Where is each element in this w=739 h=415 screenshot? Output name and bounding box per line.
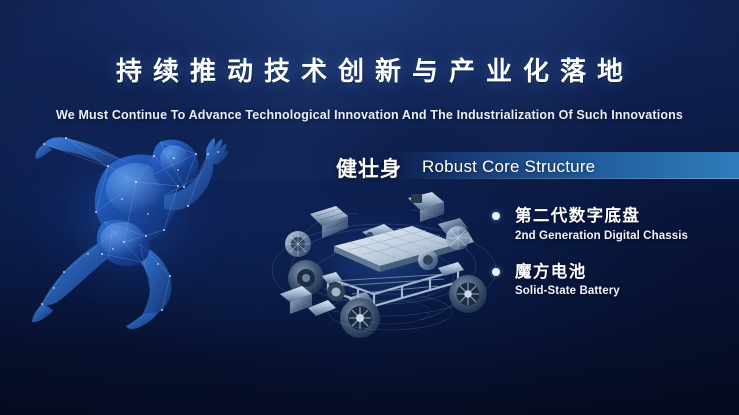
slide-subtitle: We Must Continue To Advance Technologica…: [0, 108, 739, 122]
list-item-title-en: 2nd Generation Digital Chassis: [515, 230, 732, 242]
slide-title: 持续推动技术创新与产业化落地: [0, 58, 739, 87]
list-item: 第二代数字底盘 2nd Generation Digital Chassis: [492, 206, 732, 242]
list-item-title-en: Solid-State Battery: [515, 285, 732, 297]
ev-chassis-graphic: [262, 182, 506, 340]
list-item: 魔方电池 Solid-State Battery: [492, 262, 732, 298]
runner-glow: [0, 96, 268, 341]
bullet-dot-icon: [492, 212, 500, 220]
chassis-glow: [262, 182, 506, 340]
list-item-title-cn: 魔方电池: [515, 262, 732, 283]
section-heading-en: Robust Core Structure: [422, 157, 595, 177]
presentation-slide: 持续推动技术创新与产业化落地 We Must Continue To Advan…: [0, 0, 739, 415]
list-item-title-cn: 第二代数字底盘: [515, 206, 732, 227]
runner-icon: [8, 104, 258, 332]
feature-list: 第二代数字底盘 2nd Generation Digital Chassis 魔…: [492, 206, 732, 317]
chassis-icon: [262, 182, 506, 340]
wireframe-runner-graphic: [8, 104, 258, 332]
section-heading-cn: 健壮身: [336, 153, 402, 183]
bullet-dot-icon: [492, 268, 500, 276]
